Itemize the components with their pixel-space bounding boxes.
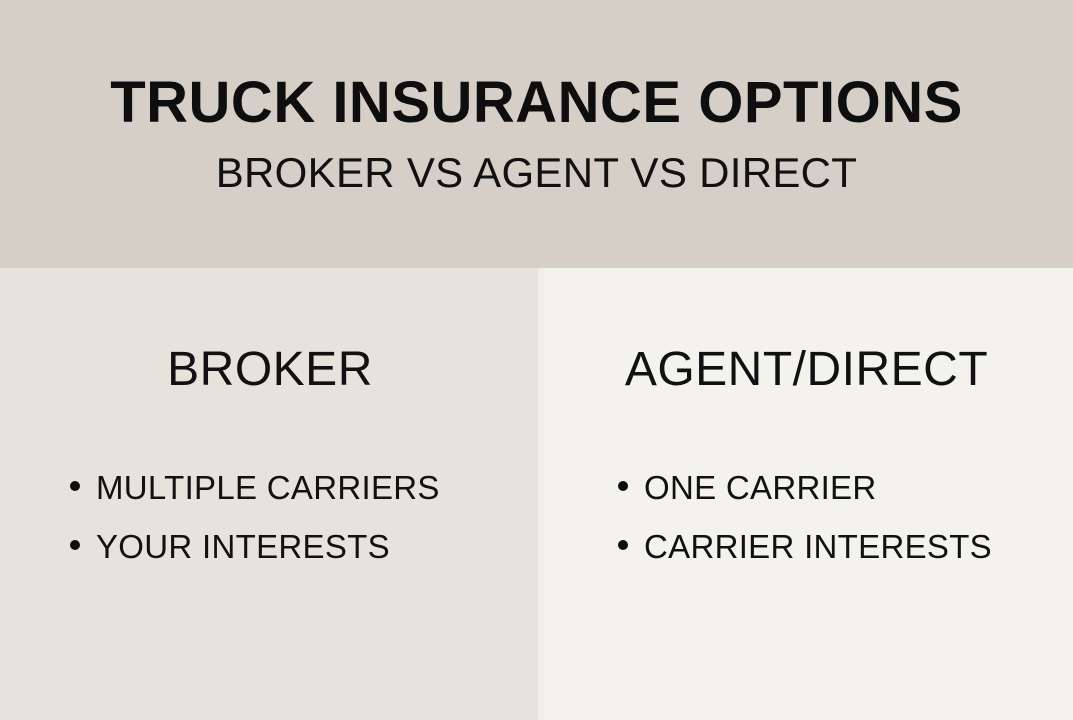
list-item-label: YOUR INTERESTS	[96, 517, 390, 576]
list-item-label: CARRIER INTERESTS	[644, 517, 992, 576]
column-divider	[538, 268, 544, 720]
list-item: YOUR INTERESTS	[70, 517, 440, 576]
header-banner: TRUCK INSURANCE OPTIONS BROKER VS AGENT …	[0, 0, 1073, 268]
bullet-list-broker: MULTIPLE CARRIERS YOUR INTERESTS	[70, 458, 440, 576]
list-item: ONE CARRIER	[618, 458, 992, 517]
column-heading-agent-direct: AGENT/DIRECT	[540, 346, 1073, 394]
bullet-dot-icon	[618, 540, 628, 550]
column-agent-direct: AGENT/DIRECT ONE CARRIER CARRIER INTERES…	[540, 268, 1073, 720]
list-item: CARRIER INTERESTS	[618, 517, 992, 576]
bullet-dot-icon	[70, 540, 80, 550]
list-item-label: MULTIPLE CARRIERS	[96, 458, 440, 517]
bullet-dot-icon	[618, 481, 628, 491]
comparison-columns: BROKER MULTIPLE CARRIERS YOUR INTERESTS …	[0, 268, 1073, 720]
bullet-dot-icon	[70, 481, 80, 491]
list-item-label: ONE CARRIER	[644, 458, 877, 517]
page-title: TRUCK INSURANCE OPTIONS	[110, 74, 963, 132]
column-broker: BROKER MULTIPLE CARRIERS YOUR INTERESTS	[0, 268, 540, 720]
page-subtitle: BROKER VS AGENT VS DIRECT	[216, 152, 858, 194]
list-item: MULTIPLE CARRIERS	[70, 458, 440, 517]
column-heading-broker: BROKER	[0, 346, 540, 394]
bullet-list-agent-direct: ONE CARRIER CARRIER INTERESTS	[618, 458, 992, 576]
infographic-poster: TRUCK INSURANCE OPTIONS BROKER VS AGENT …	[0, 0, 1073, 720]
